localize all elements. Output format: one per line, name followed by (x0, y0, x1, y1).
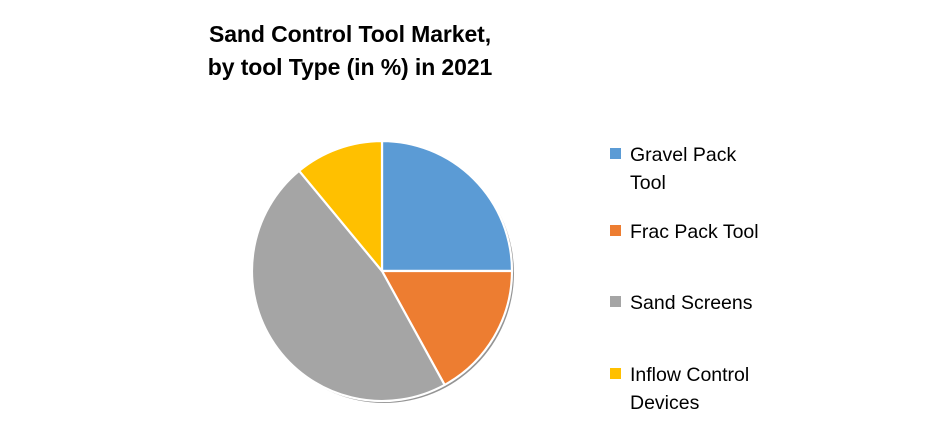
legend-item-label: Sand Screens (630, 290, 753, 318)
legend-item[interactable]: Inflow Control Devices (610, 362, 749, 417)
legend-item[interactable]: Gravel Pack Tool (610, 142, 736, 197)
pie-plot-area (235, 130, 545, 420)
legend-color-swatch-icon (610, 368, 621, 379)
chart-title-line-2: by tool Type (in %) in 2021 (0, 51, 700, 84)
pie-slice-group (252, 141, 512, 401)
chart-title-line-1: Sand Control Tool Market, (0, 18, 700, 51)
legend-color-swatch-icon (610, 225, 621, 236)
legend-item[interactable]: Sand Screens (610, 290, 753, 318)
pie-chart (235, 130, 545, 420)
legend-color-swatch-icon (610, 148, 621, 159)
legend-color-swatch-icon (610, 296, 621, 307)
pie-slice[interactable] (382, 141, 512, 271)
legend-item[interactable]: Frac Pack Tool (610, 219, 759, 247)
legend-item-label: Inflow Control Devices (630, 362, 749, 417)
chart-title: Sand Control Tool Market, by tool Type (… (0, 18, 700, 83)
chart-canvas: Sand Control Tool Market, by tool Type (… (0, 0, 940, 447)
legend-item-label: Frac Pack Tool (630, 219, 759, 247)
legend-item-label: Gravel Pack Tool (630, 142, 736, 197)
